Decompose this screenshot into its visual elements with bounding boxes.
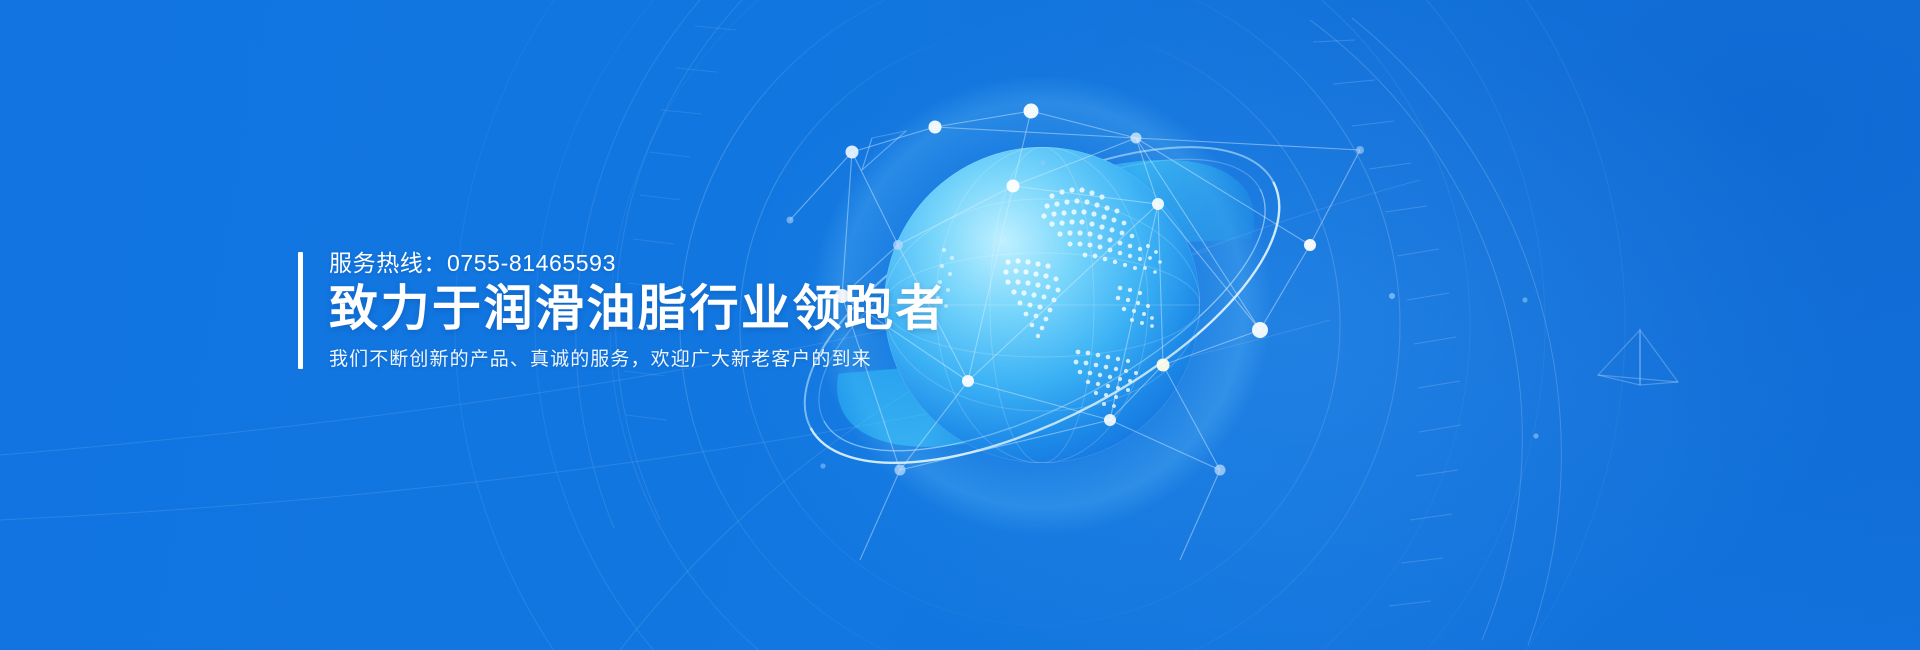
wireframe-pyramid-icon [1598, 330, 1678, 385]
accent-bar [298, 252, 303, 369]
page-title: 致力于润滑油脂行业领跑者 [329, 281, 947, 338]
hero-text-column: 服务热线：0755-81465593 致力于润滑油脂行业领跑者 我们不断创新的产… [329, 252, 947, 369]
hero-text-block: 服务热线：0755-81465593 致力于润滑油脂行业领跑者 我们不断创新的产… [298, 252, 947, 369]
wireframe-triangle-icon [862, 131, 906, 170]
globe-network-illustration [0, 0, 1920, 650]
background-gradient [0, 0, 1920, 650]
radar-arc-layer [0, 0, 1920, 650]
wireframe-triangle-layer [0, 0, 1920, 650]
page-subtitle: 我们不断创新的产品、真诚的服务，欢迎广大新老客户的到来 [329, 350, 947, 369]
service-hotline: 服务热线：0755-81465593 [329, 252, 947, 275]
hero-banner: 服务热线：0755-81465593 致力于润滑油脂行业领跑者 我们不断创新的产… [0, 0, 1920, 650]
globe-continent-dots [936, 187, 1162, 408]
